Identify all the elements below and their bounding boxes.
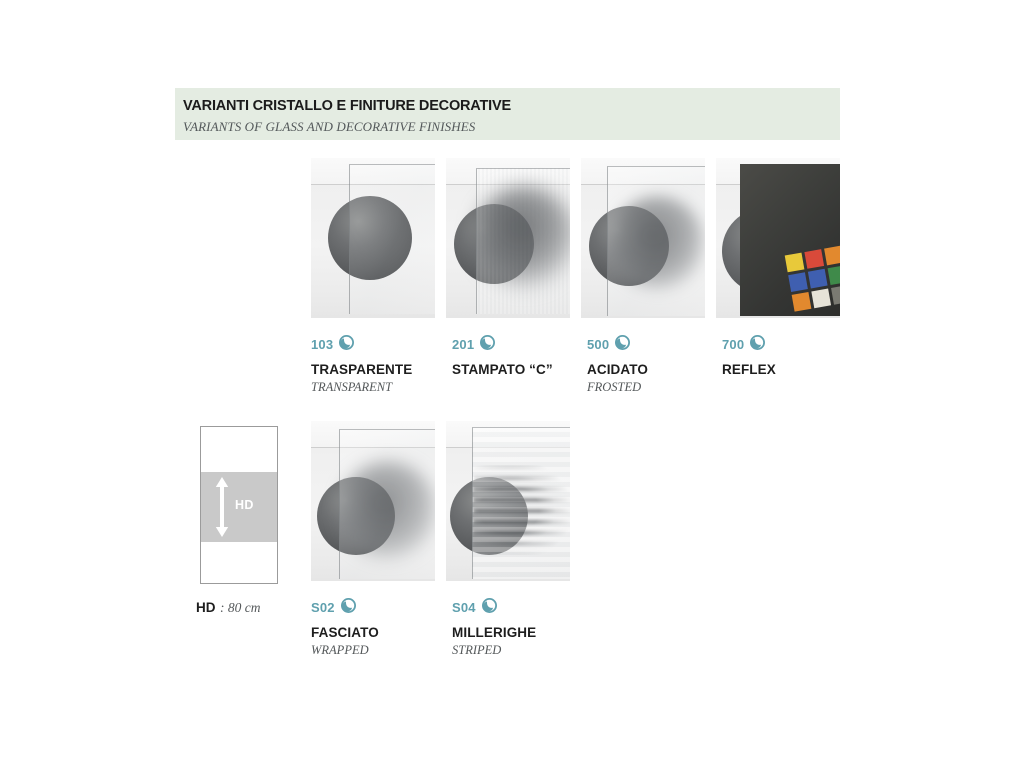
- page-root: VARIANTI CRISTALLO E FINITURE DECORATIVE…: [0, 0, 1024, 768]
- color-swatch-3: [824, 246, 840, 266]
- sample-photo: [446, 421, 570, 581]
- sample-photo: [311, 158, 435, 318]
- sample-image-103[interactable]: [311, 158, 435, 318]
- sample-code: 103: [311, 337, 333, 353]
- sample-code: 700: [722, 337, 744, 353]
- sample-name-en: WRAPPED: [311, 643, 379, 658]
- glass-pane-edge: [607, 166, 705, 316]
- sample-photo: [581, 158, 705, 318]
- hd-caption-value: : 80 cm: [220, 600, 261, 615]
- hd-band-label: HD: [235, 498, 254, 512]
- code-row: 700: [722, 337, 776, 353]
- code-row: S02: [311, 600, 379, 616]
- sample-caption-500: 500 ACIDATO FROSTED: [587, 337, 648, 395]
- sample-code: S02: [311, 600, 335, 616]
- hd-diagram: HD: [200, 426, 278, 584]
- sample-photo: [716, 158, 840, 318]
- sample-image-S02[interactable]: [311, 421, 435, 581]
- finish-swatch-icon: [615, 335, 630, 355]
- sample-photo: [446, 158, 570, 318]
- sample-caption-103: 103 TRASPARENTE TRANSPARENT: [311, 337, 412, 395]
- sample-caption-S02: S02 FASCIATO WRAPPED: [311, 600, 379, 658]
- sample-name-it: TRASPARENTE: [311, 362, 412, 377]
- page-subtitle: VARIANTS OF GLASS AND DECORATIVE FINISHE…: [183, 119, 475, 135]
- color-swatch-7: [792, 292, 812, 312]
- hd-double-arrow-icon: [215, 477, 229, 537]
- sample-image-500[interactable]: [581, 158, 705, 318]
- code-row: 103: [311, 337, 412, 353]
- finish-swatch-icon: [339, 335, 354, 355]
- sample-caption-700: 700 REFLEX: [722, 337, 776, 380]
- code-row: S04: [452, 600, 536, 616]
- hd-caption: HD : 80 cm: [196, 599, 260, 617]
- code-row: 201: [452, 337, 553, 353]
- hd-caption-key: HD: [196, 600, 216, 615]
- glass-pane-edge: [339, 429, 435, 579]
- sample-name-en: TRANSPARENT: [311, 380, 412, 395]
- sample-name-en: FROSTED: [587, 380, 648, 395]
- sample-image-700[interactable]: [716, 158, 840, 318]
- color-checker: [785, 245, 840, 318]
- sample-code: 500: [587, 337, 609, 353]
- glass-pane-edge: [472, 427, 570, 579]
- finish-swatch-icon: [482, 598, 497, 618]
- finish-swatch-icon: [750, 335, 765, 355]
- sample-name-it: STAMPATO “C”: [452, 362, 553, 377]
- sample-photo: [311, 421, 435, 581]
- finish-swatch-icon: [341, 598, 356, 618]
- sample-code: S04: [452, 600, 476, 616]
- sample-image-S04[interactable]: [446, 421, 570, 581]
- color-swatch-8: [811, 289, 831, 309]
- sample-code: 201: [452, 337, 474, 353]
- code-row: 500: [587, 337, 648, 353]
- color-swatch-6: [828, 265, 840, 285]
- finish-swatch-icon: [480, 335, 495, 355]
- page-title: VARIANTI CRISTALLO E FINITURE DECORATIVE: [183, 98, 511, 114]
- sample-caption-201: 201 STAMPATO “C”: [452, 337, 553, 380]
- sample-caption-S04: S04 MILLERIGHE STRIPED: [452, 600, 536, 658]
- glass-pane-edge: [349, 164, 435, 314]
- sample-name-it: FASCIATO: [311, 625, 379, 640]
- color-swatch-1: [785, 253, 805, 273]
- color-swatch-5: [808, 269, 828, 289]
- color-swatch-2: [804, 249, 824, 269]
- sample-name-en: STRIPED: [452, 643, 536, 658]
- sample-name-it: REFLEX: [722, 362, 776, 377]
- sample-image-201[interactable]: [446, 158, 570, 318]
- glass-pane-edge: [476, 168, 570, 314]
- sample-name-it: ACIDATO: [587, 362, 648, 377]
- color-swatch-4: [788, 272, 808, 292]
- sample-name-it: MILLERIGHE: [452, 625, 536, 640]
- color-swatch-9: [831, 285, 840, 305]
